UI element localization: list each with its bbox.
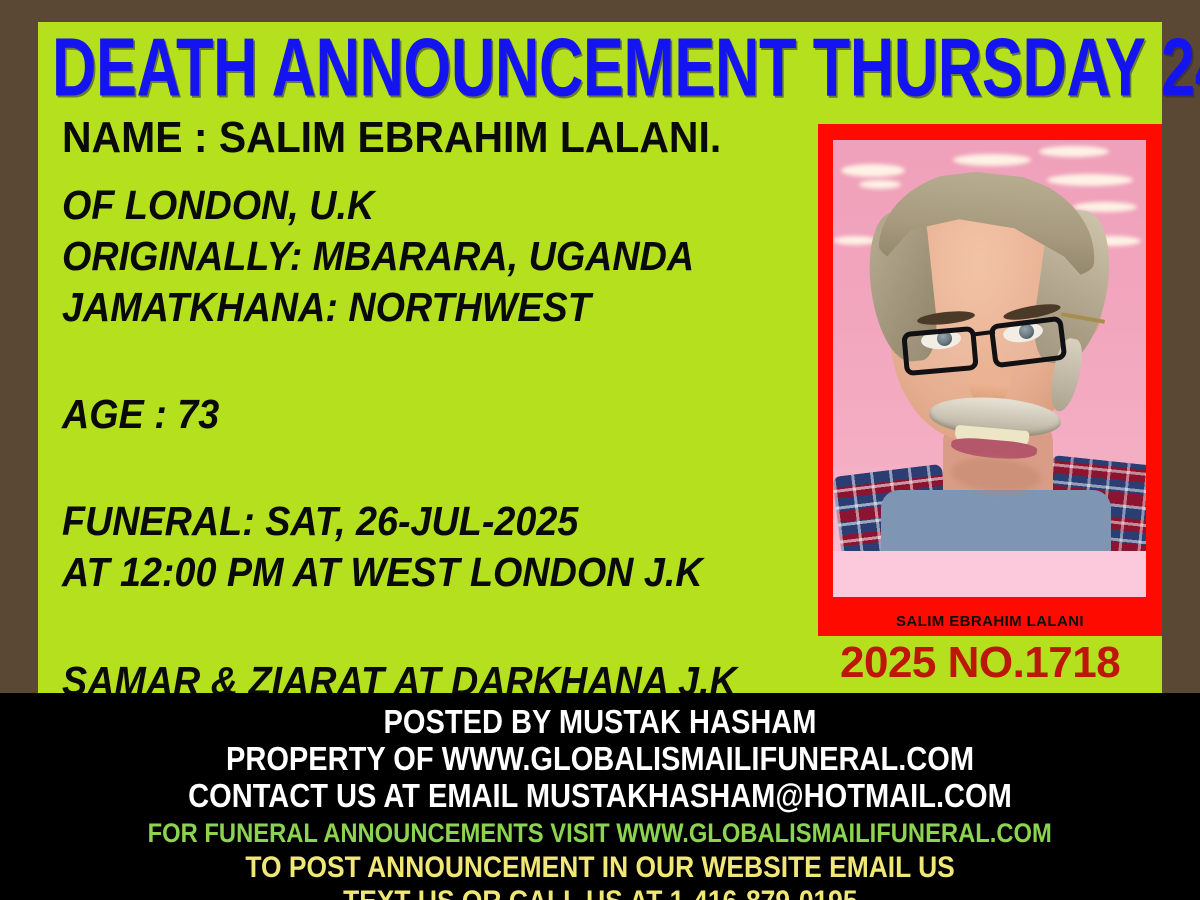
- photo-caption: SALIM EBRAHIM LALANI: [818, 613, 1162, 630]
- footer-phone-number: TEXT US OR CALL US AT 1-416-879-0195: [0, 885, 1200, 900]
- page-title-text: DEATH ANNOUNCEMENT THURSDAY 24-JUL-2025: [52, 29, 1200, 105]
- detail-funeral-date-line: FUNERAL: SAT, 26-JUL-2025: [62, 496, 822, 547]
- detail-residence-line: OF LONDON, U.K: [62, 180, 822, 231]
- portrait-photo: [833, 140, 1146, 597]
- detail-name-line: NAME : SALIM EBRAHIM LALANI.: [62, 112, 822, 164]
- detail-funeral-location-line: AT 12:00 PM AT WEST LONDON J.K: [62, 547, 822, 598]
- footer-website-visit: FOR FUNERAL ANNOUNCEMENTS VISIT WWW.GLOB…: [0, 814, 1200, 850]
- detail-jamatkhana-line: JAMATKHANA: NORTHWEST: [62, 282, 822, 333]
- detail-origin-line: ORIGINALLY: MBARARA, UGANDA: [62, 231, 822, 282]
- footer-block: POSTED BY MUSTAK HASHAM PROPERTY OF WWW.…: [0, 693, 1200, 900]
- page-title: DEATH ANNOUNCEMENT THURSDAY 24-JUL-2025: [52, 31, 1145, 103]
- footer-contact-email: CONTACT US AT EMAIL MUSTAKHASHAM@HOTMAIL…: [0, 777, 1200, 814]
- man-portrait-illustration: [833, 170, 1146, 555]
- death-announcement-poster: DEATH ANNOUNCEMENT THURSDAY 24-JUL-2025 …: [0, 0, 1200, 900]
- portrait-photo-frame: SALIM EBRAHIM LALANI: [818, 124, 1162, 636]
- eyeglasses-icon: [903, 318, 1081, 374]
- footer-post-announcement: TO POST ANNOUNCEMENT IN OUR WEBSITE EMAI…: [0, 850, 1200, 885]
- footer-property-of: PROPERTY OF WWW.GLOBALISMAILIFUNERAL.COM: [0, 740, 1200, 777]
- deceased-details-block: NAME : SALIM EBRAHIM LALANI. OF LONDON, …: [62, 112, 822, 707]
- cloud-shape: [1039, 146, 1109, 157]
- photo-lower-pink-band: [833, 551, 1146, 597]
- cloud-shape: [953, 154, 1031, 166]
- footer-posted-by: POSTED BY MUSTAK HASHAM: [0, 693, 1200, 740]
- detail-age-line: AGE : 73: [62, 389, 822, 440]
- lens-left: [901, 326, 979, 376]
- lens-right: [989, 316, 1068, 369]
- announcement-reference-number: 2025 NO.1718: [840, 639, 1120, 687]
